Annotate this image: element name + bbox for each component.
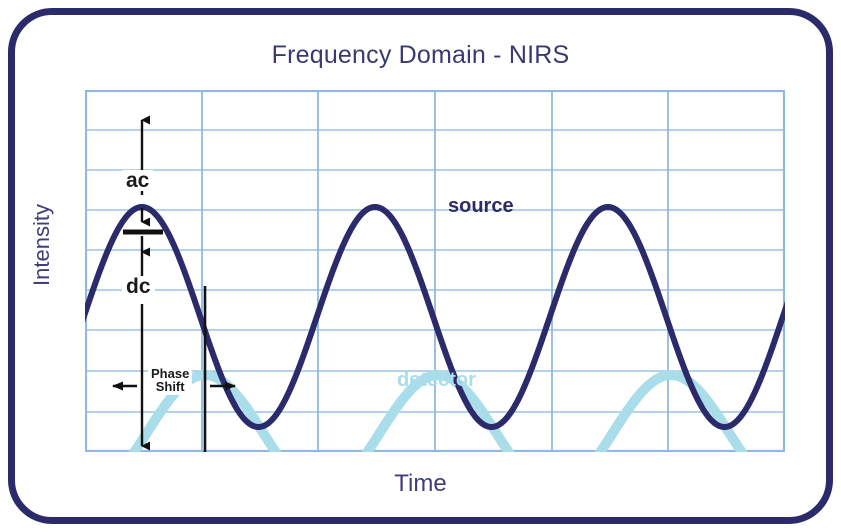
source-series-label: source — [448, 196, 514, 216]
dc-label: dc — [122, 276, 155, 297]
phase-shift-label-line2: Shift — [151, 380, 189, 393]
figure-root: Frequency Domain - NIRS Intensity Time — [0, 0, 841, 532]
phase-shift-label: Phase Shift — [148, 366, 192, 395]
phase-shift-label-line1: Phase — [151, 367, 189, 380]
chart-svg — [85, 90, 785, 452]
x-axis-label: Time — [0, 470, 841, 498]
plot-area — [85, 90, 785, 452]
detector-series-label: detector — [397, 370, 476, 390]
page-title: Frequency Domain - NIRS — [0, 41, 841, 70]
ac-label: ac — [122, 170, 153, 191]
y-axis-label: Intensity — [29, 165, 55, 325]
